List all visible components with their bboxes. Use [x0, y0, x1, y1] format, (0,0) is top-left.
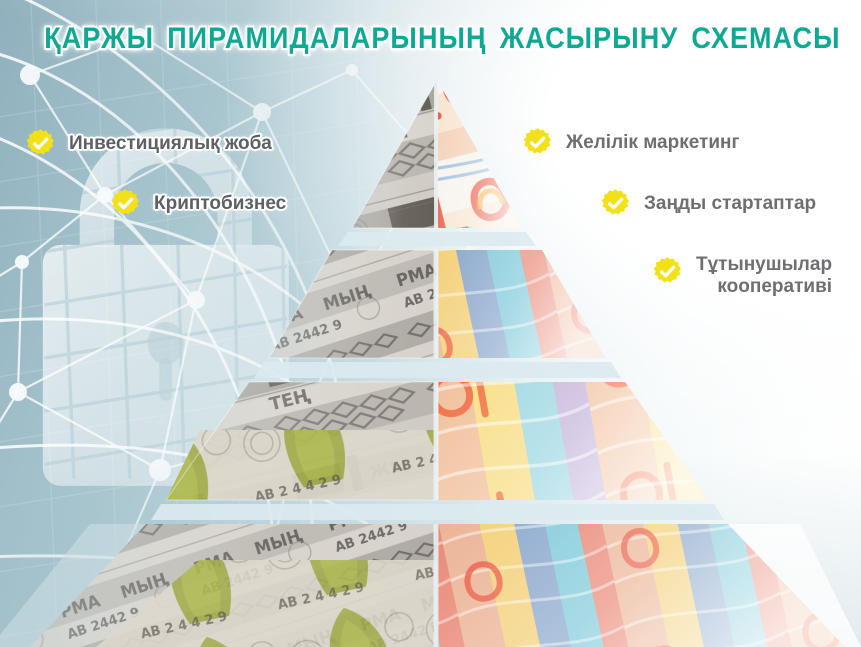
infographic-poster: ЖЫ ТЕҢ — [0, 0, 861, 647]
check-badge-icon — [652, 256, 683, 287]
label-network-marketing: Желілік маркетинг — [522, 127, 739, 158]
label-text: Инвестициялық жоба — [69, 133, 272, 155]
pyramid-gap-3 — [151, 504, 724, 520]
check-badge-icon — [522, 127, 553, 158]
label-investment-project: Инвестициялық жоба — [25, 128, 272, 159]
label-text: Заңды стартаптар — [644, 193, 816, 215]
poster-title-container: ҚАРЖЫ ПИРАМИДАЛАРЫНЫҢ ЖАСЫРЫНУ СХЕМАСЫ Қ… — [0, 22, 861, 56]
label-crypto-business: Криптобизнес — [110, 188, 286, 219]
pyramid-gap-2 — [254, 362, 621, 378]
pyramid-tier-1 — [352, 80, 522, 228]
pyramid-tier-2 — [269, 250, 605, 358]
poster-title: ҚАРЖЫ ПИРАМИДАЛАРЫНЫҢ ЖАСЫРЫНУ СХЕМАСЫ — [44, 22, 840, 56]
pyramid-gap-1 — [338, 232, 536, 246]
label-consumer-cooperative: Тұтынушылар кооперативі — [652, 254, 832, 298]
pyramid-graphic: ЖЫ ТЕҢ — [0, 0, 861, 647]
label-text: Тұтынушылар кооперативі — [696, 254, 832, 298]
check-badge-icon — [600, 188, 631, 219]
check-badge-icon — [25, 128, 56, 159]
pyramid-tier-4 — [30, 524, 845, 647]
label-legal-startups: Заңды стартаптар — [600, 188, 816, 219]
check-badge-icon — [110, 188, 141, 219]
label-text: Криптобизнес — [154, 193, 286, 215]
pyramid-tier-3 — [166, 382, 708, 500]
label-text: Желілік маркетинг — [566, 132, 739, 154]
